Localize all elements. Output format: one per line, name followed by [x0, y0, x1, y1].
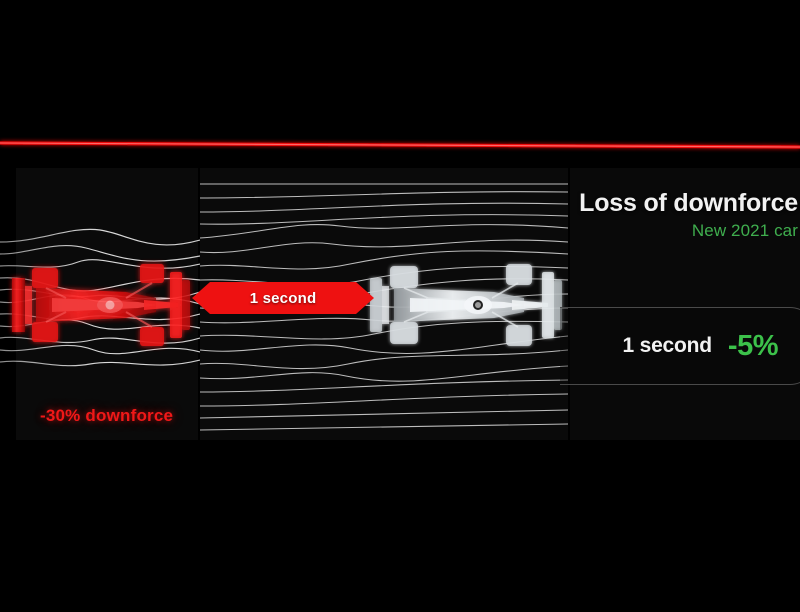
- page-subtitle: New 2021 car: [579, 221, 798, 241]
- white-f1-car-topview-icon: [366, 248, 566, 362]
- stat-label: 1 second: [622, 334, 711, 358]
- stat-panel: 1 second -5%: [560, 307, 800, 385]
- red-scan-line-icon: [0, 134, 800, 156]
- presentation-slide: 1 second -30% downforce Loss of downforc…: [0, 0, 800, 612]
- title-block: Loss of downforce New 2021 car: [579, 190, 798, 241]
- downforce-loss-caption: -30% downforce: [40, 406, 173, 426]
- stat-value: -5%: [728, 330, 778, 363]
- page-title: Loss of downforce: [579, 190, 798, 217]
- one-second-gap-label: 1 second: [192, 279, 374, 317]
- red-f1-car-topview-icon: [6, 250, 196, 360]
